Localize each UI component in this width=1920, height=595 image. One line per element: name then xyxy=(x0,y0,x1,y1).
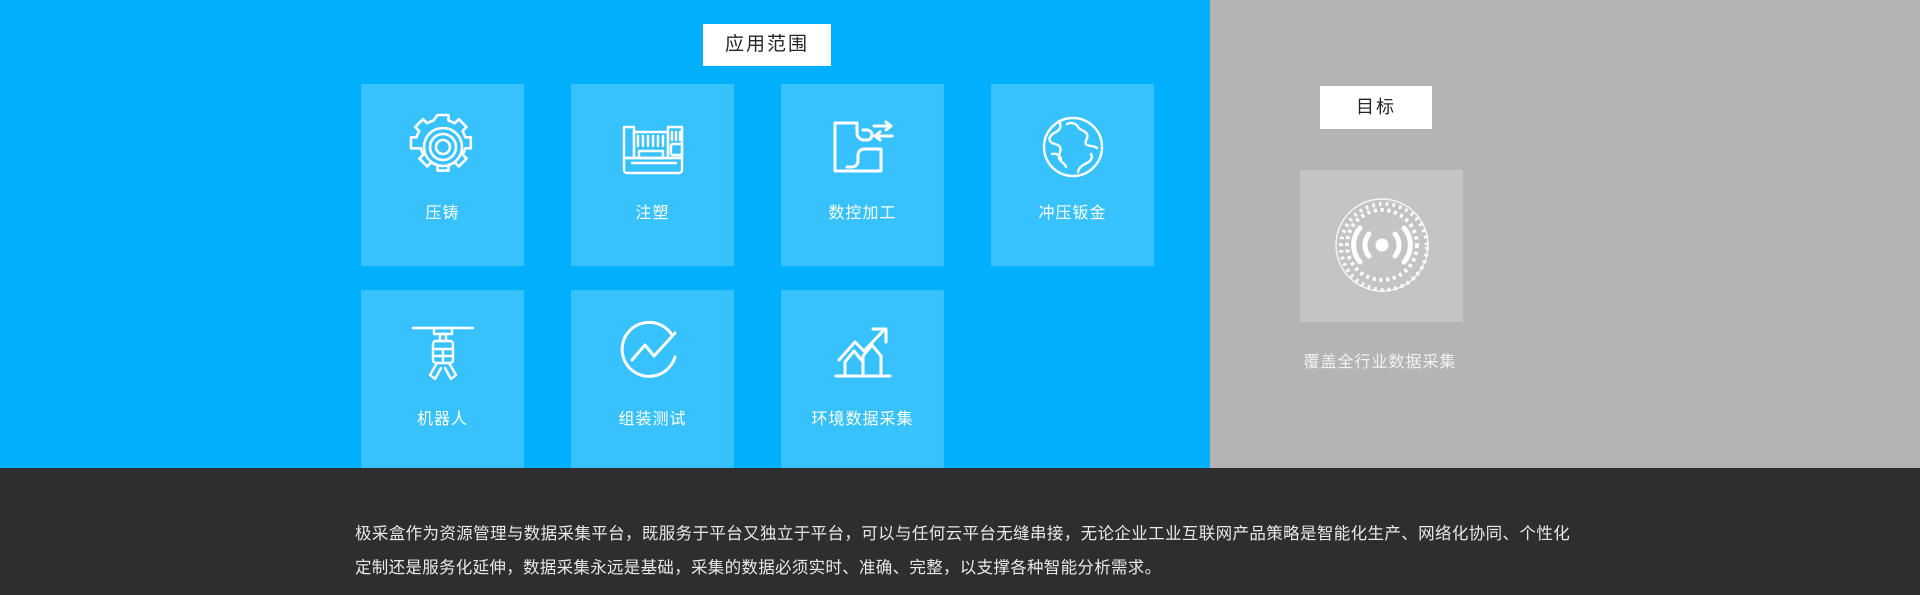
injection-molding-machine-icon xyxy=(616,110,690,184)
goal-card[interactable] xyxy=(1300,170,1463,322)
scope-card-environment-data-collection[interactable]: 环境数据采集 xyxy=(781,290,944,472)
circle-line-chart-icon xyxy=(616,316,690,390)
application-scope-panel: 应用范围 压铸 xyxy=(0,0,1210,468)
top-area: 应用范围 压铸 xyxy=(0,0,1920,468)
footer-paragraph: 极采盒作为资源管理与数据采集平台，既服务于平台又独立于平台，可以与任何云平台无缝… xyxy=(355,517,1570,585)
scope-card-robot[interactable]: 机器人 xyxy=(361,290,524,472)
scope-card-injection-molding[interactable]: 注塑 xyxy=(571,84,734,266)
goal-section-title: 目标 xyxy=(1320,86,1432,129)
scope-card-stamping-sheet-metal[interactable]: 冲压钣金 xyxy=(991,84,1154,266)
robot-gripper-icon xyxy=(406,316,480,390)
scope-card-grid: 压铸 xyxy=(361,84,1161,472)
goal-panel: 目标 覆盖全行业数据采集 xyxy=(1210,0,1920,468)
footer-bar: 极采盒作为资源管理与数据采集平台，既服务于平台又独立于平台，可以与任何云平台无缝… xyxy=(0,468,1920,595)
wireless-signal-radar-icon xyxy=(1326,190,1438,302)
globe-icon xyxy=(1036,110,1110,184)
scope-card-assembly-test[interactable]: 组装测试 xyxy=(571,290,734,472)
bar-growth-chart-icon xyxy=(826,316,900,390)
scope-card-row-2: 机器人 组装测试 xyxy=(361,290,1161,472)
page-root: 应用范围 压铸 xyxy=(0,0,1920,595)
scope-card-row-1: 压铸 xyxy=(361,84,1161,266)
gear-icon xyxy=(406,110,480,184)
scope-card-cnc-machining[interactable]: 数控加工 xyxy=(781,84,944,266)
scope-card-label: 机器人 xyxy=(417,412,468,428)
scope-card-label: 组装测试 xyxy=(618,412,686,428)
scope-card-label: 冲压钣金 xyxy=(1038,206,1106,222)
scope-card-die-casting[interactable]: 压铸 xyxy=(361,84,524,266)
scope-card-label: 环境数据采集 xyxy=(811,412,913,428)
scope-card-label: 压铸 xyxy=(425,206,459,222)
scope-card-label: 数控加工 xyxy=(828,206,896,222)
scope-section-title: 应用范围 xyxy=(703,24,831,66)
scope-card-label: 注塑 xyxy=(635,206,669,222)
goal-caption: 覆盖全行业数据采集 xyxy=(1210,355,1550,371)
cnc-machining-path-icon xyxy=(826,110,900,184)
